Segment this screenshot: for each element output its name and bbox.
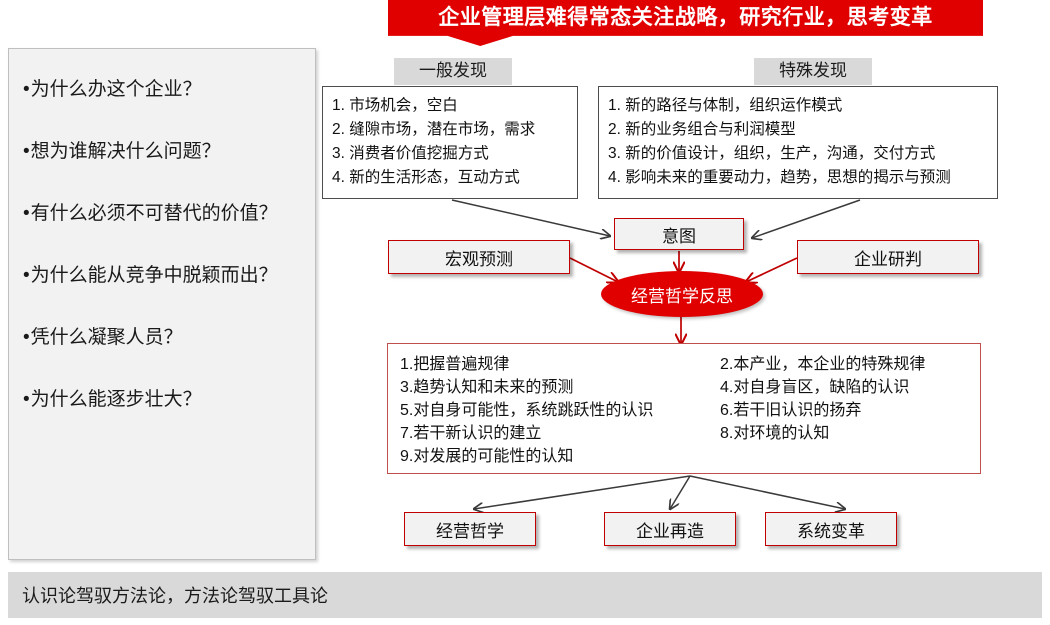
- bullet-icon: •: [23, 327, 30, 348]
- special-findings-tag: 特殊发现: [754, 58, 872, 85]
- recognition-item: 2.本产业，本企业的特殊规律: [720, 353, 968, 376]
- special-finding-item: 1. 新的路径与体制，组织运作模式: [608, 94, 988, 118]
- recognition-item: 6.若干旧认识的扬弃: [720, 399, 968, 422]
- outcome-node-3: 系统变革: [765, 512, 897, 546]
- question-text: 有什么必须不可替代的价值？: [31, 203, 278, 224]
- question-text: 凭什么凝聚人员？: [31, 327, 183, 348]
- question-item: •为什么能逐步壮大？: [23, 389, 305, 411]
- connector-recognition-to-outcome-1: [474, 476, 690, 509]
- recognition-item: 3.趋势认知和未来的预测: [400, 376, 720, 399]
- bullet-icon: •: [23, 265, 30, 286]
- recognition-item: [720, 445, 968, 468]
- connector-recognition-to-outcome-3: [690, 476, 845, 509]
- connector-macro-to-ellipse: [570, 258, 618, 282]
- intent-node: 意图: [614, 218, 744, 250]
- outcome-node-2: 企业再造: [604, 512, 736, 546]
- general-findings-box: 1. 市场机会，空白 2. 缝隙市场，潜在市场，需求 3. 消费者价值挖掘方式 …: [322, 86, 578, 199]
- headline-banner: 企业管理层难得常态关注战略，研究行业，思考变革: [388, 0, 983, 46]
- bullet-icon: •: [23, 141, 30, 162]
- question-text: 为什么办这个企业？: [31, 79, 202, 100]
- bullet-icon: •: [23, 79, 30, 100]
- question-item: •凭什么凝聚人员？: [23, 327, 305, 349]
- recognition-box: 1.把握普遍规律 2.本产业，本企业的特殊规律 3.趋势认知和未来的预测 4.对…: [387, 343, 981, 474]
- core-ellipse-node: 经营哲学反思: [601, 271, 763, 317]
- special-finding-item: 2. 新的业务组合与利润模型: [608, 118, 988, 142]
- general-finding-item: 4. 新的生活形态，互动方式: [332, 166, 568, 190]
- general-finding-item: 3. 消费者价值挖掘方式: [332, 142, 568, 166]
- questions-panel: •为什么办这个企业？ •想为谁解决什么问题？ •有什么必须不可替代的价值？ •为…: [8, 48, 316, 560]
- banner-title: 企业管理层难得常态关注战略，研究行业，思考变革: [388, 3, 983, 33]
- connector-special-to-intent: [752, 200, 860, 238]
- question-text: 想为谁解决什么问题？: [31, 141, 221, 162]
- question-item: •想为谁解决什么问题？: [23, 141, 305, 163]
- general-finding-item: 1. 市场机会，空白: [332, 94, 568, 118]
- recognition-item: 9.对发展的可能性的认知: [400, 445, 720, 468]
- question-item: •为什么能从竞争中脱颖而出？: [23, 265, 305, 287]
- question-text: 为什么能从竞争中脱颖而出？: [31, 265, 278, 286]
- recognition-item: 5.对自身可能性，系统跳跃性的认识: [400, 399, 720, 422]
- enterprise-judgement-node: 企业研判: [797, 240, 979, 274]
- special-findings-box: 1. 新的路径与体制，组织运作模式 2. 新的业务组合与利润模型 3. 新的价值…: [598, 86, 998, 199]
- macro-forecast-node: 宏观预测: [388, 240, 570, 274]
- bullet-icon: •: [23, 203, 30, 224]
- connector-judgement-to-ellipse: [746, 258, 797, 282]
- recognition-item: 7.若干新认识的建立: [400, 422, 720, 445]
- special-finding-item: 4. 影响未来的重要动力，趋势，思想的揭示与预测: [608, 166, 988, 190]
- general-findings-tag: 一般发现: [394, 58, 512, 85]
- footer-text: 认识论驾驭方法论，方法论驾驭工具论: [22, 582, 328, 608]
- question-item: •有什么必须不可替代的价值？: [23, 203, 305, 225]
- recognition-item: 1.把握普遍规律: [400, 353, 720, 376]
- recognition-item: 8.对环境的认知: [720, 422, 968, 445]
- bullet-icon: •: [23, 389, 30, 410]
- outcome-node-1: 经营哲学: [404, 512, 536, 546]
- connector-general-to-intent: [452, 200, 610, 236]
- footer-bar: 认识论驾驭方法论，方法论驾驭工具论: [8, 572, 1042, 618]
- connector-recognition-to-outcome-2: [670, 476, 690, 509]
- question-text: 为什么能逐步壮大？: [31, 389, 202, 410]
- question-item: •为什么办这个企业？: [23, 79, 305, 101]
- recognition-item: 4.对自身盲区，缺陷的认识: [720, 376, 968, 399]
- general-finding-item: 2. 缝隙市场，潜在市场，需求: [332, 118, 568, 142]
- special-finding-item: 3. 新的价值设计，组织，生产，沟通，交付方式: [608, 142, 988, 166]
